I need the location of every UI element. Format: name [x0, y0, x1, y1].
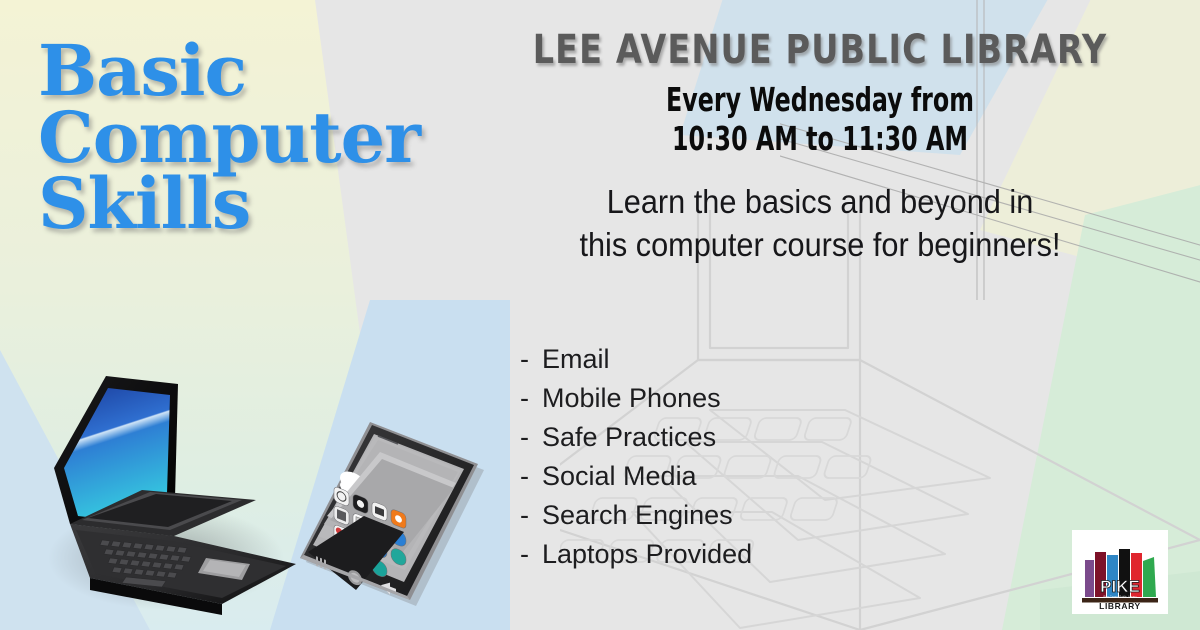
- schedule-block: Every Wednesday from 10:30 AM to 11:30 A…: [540, 81, 1100, 159]
- schedule-line-1: Every Wednesday from: [540, 81, 1100, 120]
- poster-canvas: Basic Computer Skills LEE AVENUE PUBLIC …: [0, 0, 1200, 630]
- logo-tagline: Pike County Public Library: [1103, 595, 1137, 599]
- list-item-label: Mobile Phones: [542, 383, 721, 413]
- library-logo[interactable]: PIKE Pike County Public Library LIBRARY: [1072, 530, 1168, 614]
- organization-name: LEE AVENUE PUBLIC LIBRARY: [495, 27, 1146, 73]
- topic-list: -Email -Mobile Phones -Safe Practices -S…: [520, 340, 940, 574]
- list-item-label: Email: [542, 344, 610, 374]
- list-item-label: Search Engines: [542, 500, 733, 530]
- list-bullet: -: [520, 379, 542, 418]
- title-line-1: Basic: [38, 38, 498, 105]
- list-item: -Safe Practices: [520, 418, 940, 457]
- laptop-illustration: [46, 368, 316, 618]
- info-column: LEE AVENUE PUBLIC LIBRARY Every Wednesda…: [470, 0, 1170, 267]
- logo-subtitle: LIBRARY: [1099, 601, 1141, 611]
- list-bullet: -: [520, 340, 542, 379]
- list-bullet: -: [520, 496, 542, 535]
- description-line-2: this computer course for beginners!: [495, 224, 1146, 267]
- title-line-3: Skills: [38, 171, 498, 238]
- list-item-label: Social Media: [542, 461, 697, 491]
- list-bullet: -: [520, 535, 542, 574]
- list-item-label: Laptops Provided: [542, 539, 752, 569]
- list-bullet: -: [520, 457, 542, 496]
- pike-library-logo-icon: PIKE Pike County Public Library LIBRARY: [1072, 530, 1168, 614]
- smartphone-illustration: 23 °: [286, 412, 496, 617]
- list-item: -Search Engines: [520, 496, 940, 535]
- poster-title: Basic Computer Skills: [38, 38, 498, 238]
- list-item: -Mobile Phones: [520, 379, 940, 418]
- list-item: -Email: [520, 340, 940, 379]
- list-item: -Laptops Provided: [520, 535, 940, 574]
- schedule-line-2: 10:30 AM to 11:30 AM: [540, 120, 1100, 159]
- description-line-1: Learn the basics and beyond in: [495, 181, 1146, 224]
- list-item: -Social Media: [520, 457, 940, 496]
- list-item-label: Safe Practices: [542, 422, 716, 452]
- list-bullet: -: [520, 418, 542, 457]
- description-block: Learn the basics and beyond in this comp…: [495, 181, 1146, 267]
- logo-wordmark: PIKE: [1100, 577, 1140, 596]
